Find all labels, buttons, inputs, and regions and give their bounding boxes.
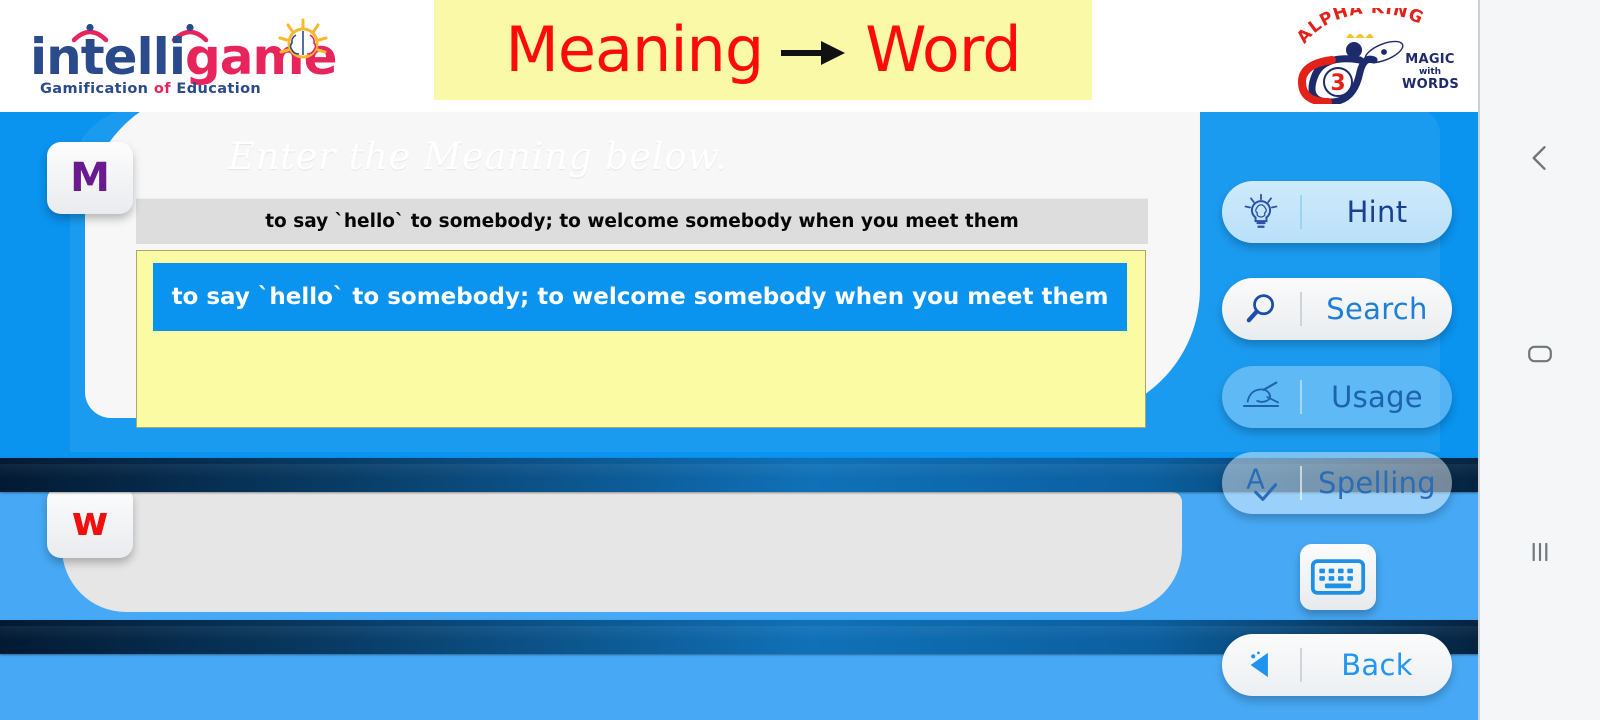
meaning-badge-letter: M <box>70 158 110 198</box>
meaning-heading: Enter the Meaning below. <box>228 135 727 178</box>
meaning-prompt-text: to say `hello` to somebody; to welcome s… <box>265 211 1019 232</box>
tagline-part-1: Gamification <box>40 81 154 97</box>
keyboard-icon <box>1310 556 1366 598</box>
nav-back-button[interactable] <box>1480 128 1600 188</box>
brain-lightbulb-icon <box>272 18 334 76</box>
tagline-part-3: Education <box>171 81 261 97</box>
game-screen: intelligame Gamification of Education <box>0 0 1478 720</box>
app-header: intelligame Gamification of Education <box>0 0 1478 112</box>
intelligame-logo: intelligame Gamification of Education <box>22 18 332 96</box>
a-check-icon: A <box>1222 452 1300 514</box>
home-square-icon <box>1522 336 1558 372</box>
writing-hand-icon <box>1222 366 1300 428</box>
magic-with-words-text: MAGIC with WORDS <box>1402 52 1458 92</box>
hint-label: Hint <box>1302 195 1452 229</box>
usage-button[interactable]: Usage <box>1222 366 1452 428</box>
magic-line-1: MAGIC <box>1402 52 1458 67</box>
nav-home-button[interactable] <box>1480 324 1600 384</box>
search-label: Search <box>1302 292 1452 326</box>
magic-line-2: with <box>1402 67 1458 77</box>
tagline-part-2: of <box>154 81 171 97</box>
nav-recents-button[interactable] <box>1480 522 1600 582</box>
recents-bars-icon <box>1522 534 1558 570</box>
meaning-prompt-strip: to say `hello` to somebody; to welcome s… <box>136 198 1148 244</box>
app-root: intelligame Gamification of Education <box>0 0 1600 720</box>
word-badge: w <box>47 486 133 558</box>
chevron-back-icon <box>1522 140 1558 176</box>
meaning-answer-text: to say `hello` to somebody; to welcome s… <box>172 284 1109 310</box>
magnifier-icon <box>1222 278 1300 340</box>
android-navigation-bar <box>1478 0 1600 720</box>
play-back-icon <box>1222 634 1300 696</box>
spelling-label: Spelling <box>1302 466 1452 500</box>
title-banner: Meaning Word <box>434 0 1092 100</box>
lightbulb-brain-icon <box>1222 181 1300 243</box>
banner-right-text: Word <box>865 19 1020 81</box>
magic-line-3: WORDS <box>1402 77 1458 92</box>
meaning-badge: M <box>47 142 133 214</box>
meaning-input-box[interactable]: to say `hello` to somebody; to welcome s… <box>136 250 1146 428</box>
hint-button[interactable]: Hint <box>1222 181 1452 243</box>
usage-label: Usage <box>1302 380 1452 414</box>
meaning-selected-text[interactable]: to say `hello` to somebody; to welcome s… <box>153 263 1127 331</box>
word-badge-letter: w <box>72 502 109 542</box>
word-input-panel[interactable] <box>62 492 1182 612</box>
svg-text:3: 3 <box>1330 71 1345 96</box>
back-button[interactable]: Back <box>1222 634 1452 696</box>
banner-left-text: Meaning <box>505 19 763 81</box>
right-arrow-icon <box>781 38 847 68</box>
keyboard-button[interactable] <box>1300 544 1376 610</box>
search-button[interactable]: Search <box>1222 278 1452 340</box>
alpha-king-logo: ALPHA KING 3 MAGIC w <box>1290 8 1458 106</box>
back-label: Back <box>1302 648 1452 682</box>
logo-tagline: Gamification of Education <box>40 81 261 97</box>
alpha-symbol-icon: 3 <box>1298 34 1408 104</box>
logo-intelli-text: intelli <box>30 28 185 86</box>
spelling-button[interactable]: A Spelling <box>1222 452 1452 514</box>
